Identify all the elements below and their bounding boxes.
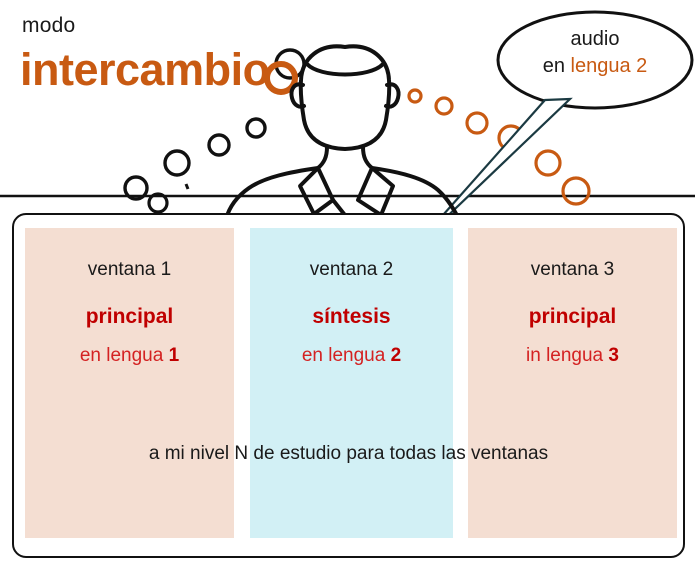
orange-circle-3 bbox=[467, 113, 487, 133]
orange-circles-group bbox=[409, 90, 589, 204]
orange-circle-5 bbox=[536, 151, 560, 175]
window-1-language-number: 1 bbox=[169, 345, 180, 366]
person-collar-left bbox=[300, 168, 333, 214]
slide-canvas: modo intercambio bbox=[0, 0, 695, 571]
black-circle-4 bbox=[247, 119, 265, 137]
person-shoulder-left bbox=[226, 168, 318, 219]
window-column-2-content: ventana 2 síntesis en lengua 2 bbox=[250, 228, 453, 368]
window-2-kind: síntesis bbox=[250, 304, 453, 330]
orange-circle-4 bbox=[499, 126, 523, 150]
person-neck-right bbox=[363, 147, 372, 168]
window-column-1-content: ventana 1 principal en lengua 1 bbox=[25, 228, 234, 368]
black-circle-6 bbox=[149, 194, 167, 212]
page-title: intercambio bbox=[20, 44, 270, 96]
orange-circle-1 bbox=[409, 90, 421, 102]
window-column-1[interactable]: ventana 1 principal en lengua 1 bbox=[25, 228, 234, 538]
window-1-language: en lengua 1 bbox=[25, 344, 234, 368]
window-1-label: ventana 1 bbox=[25, 258, 234, 282]
speech-bubble-line-2-highlight: lengua 2 bbox=[571, 55, 648, 77]
black-circle-5 bbox=[276, 50, 304, 78]
window-2-language: en lengua 2 bbox=[250, 344, 453, 368]
black-circle-1 bbox=[125, 177, 147, 199]
window-column-3-content: ventana 3 principal in lengua 3 bbox=[468, 228, 677, 368]
speech-bubble-line-1: audio bbox=[505, 26, 685, 53]
speech-bubble-text: audio en lengua 2 bbox=[505, 26, 685, 80]
black-circle-3 bbox=[209, 135, 229, 155]
window-1-language-prefix: en lengua bbox=[80, 345, 169, 366]
window-3-language: in lengua 3 bbox=[468, 344, 677, 368]
window-3-language-prefix: in lengua bbox=[526, 345, 608, 366]
person-neck bbox=[318, 147, 327, 168]
person-ear-right bbox=[386, 84, 399, 106]
window-2-language-prefix: en lengua bbox=[302, 345, 391, 366]
panel-footer-note: a mi nivel N de estudio para todas las v… bbox=[12, 443, 685, 465]
window-1-kind: principal bbox=[25, 304, 234, 330]
person-collar-right bbox=[358, 168, 393, 215]
orange-circle-2 bbox=[436, 98, 452, 114]
window-2-label: ventana 2 bbox=[250, 258, 453, 282]
window-3-kind: principal bbox=[468, 304, 677, 330]
window-3-label: ventana 3 bbox=[468, 258, 677, 282]
orange-circle-head bbox=[267, 64, 295, 92]
speech-bubble-line-2: en lengua 2 bbox=[505, 53, 685, 80]
person-head bbox=[301, 46, 390, 149]
window-column-2[interactable]: ventana 2 síntesis en lengua 2 bbox=[250, 228, 453, 538]
person-ear-left bbox=[291, 84, 304, 106]
black-circle-2 bbox=[165, 151, 189, 175]
header-kicker: modo bbox=[22, 14, 75, 38]
person-hair bbox=[307, 64, 383, 75]
window-3-language-number: 3 bbox=[608, 345, 619, 366]
person-tick-mark bbox=[186, 184, 188, 189]
window-2-language-number: 2 bbox=[391, 345, 402, 366]
window-column-3[interactable]: ventana 3 principal in lengua 3 bbox=[468, 228, 677, 538]
speech-bubble-line-2-prefix: en bbox=[543, 55, 571, 77]
orange-circle-6 bbox=[563, 178, 589, 204]
